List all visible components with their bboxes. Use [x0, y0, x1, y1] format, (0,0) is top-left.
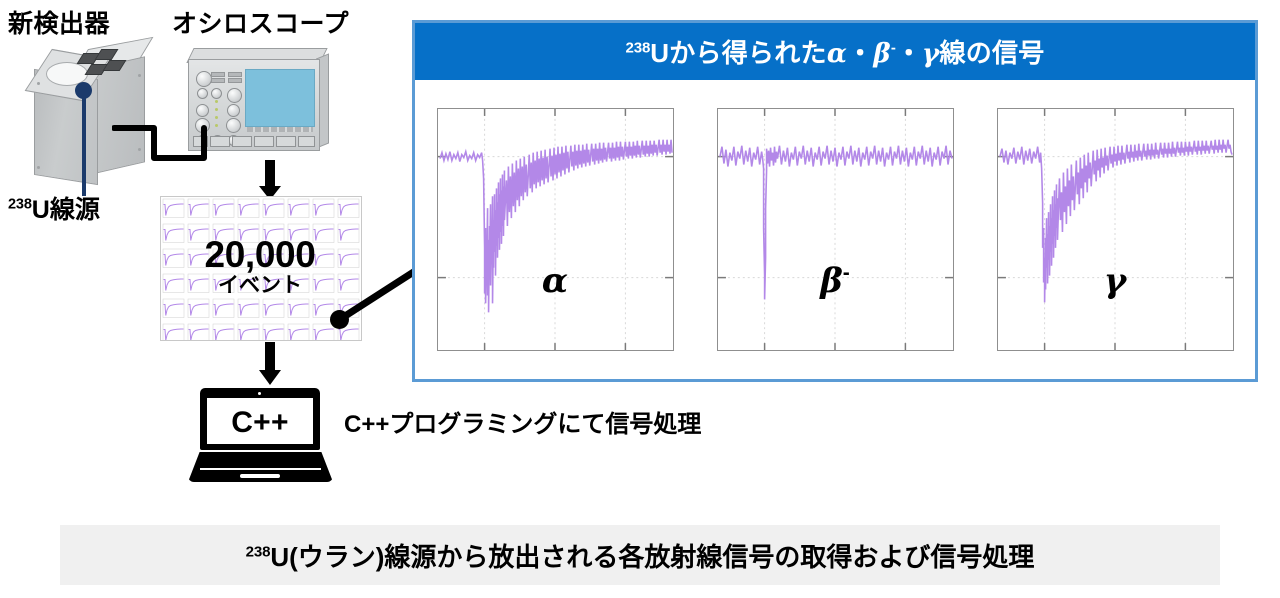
oscilloscope-led-1 — [215, 100, 218, 103]
panel-title-gamma: γ — [922, 39, 939, 69]
panel-title-text-b: 線の信号 — [939, 38, 1044, 68]
laptop-screen: C++ — [207, 398, 313, 444]
laptop-illustration: C++ — [188, 388, 333, 488]
arrow-scope-to-grid — [258, 160, 282, 200]
event-thumbnail — [311, 197, 336, 222]
oscilloscope-port-5 — [276, 136, 296, 147]
detector-screw-3 — [138, 74, 141, 77]
detector-label: 新検出器 — [8, 4, 110, 40]
waveform-plot-beta: betaβ- — [717, 108, 954, 351]
event-thumbnail — [161, 197, 186, 222]
event-thumbnail — [261, 247, 286, 272]
slide-canvas: 新検出器 オシロスコープ 238U線源 — [0, 0, 1280, 598]
oscilloscope-knob-2 — [227, 88, 242, 103]
oscilloscope-minibar-4 — [228, 78, 242, 83]
laptop-screen-text: C++ — [207, 406, 313, 440]
event-thumbnail — [161, 247, 186, 272]
event-thumbnail — [336, 222, 361, 247]
oscilloscope-knob-4 — [227, 104, 240, 117]
detector-scope-cable — [112, 120, 242, 180]
event-thumbnail — [261, 297, 286, 322]
oscilloscope-led-3 — [215, 116, 218, 119]
source-label-superscript: 238 — [8, 197, 32, 213]
oscilloscope-knob-3 — [196, 104, 209, 117]
event-thumbnail — [186, 272, 211, 297]
arrow-grid-to-laptop — [258, 342, 282, 386]
oscilloscope-minibar-1 — [211, 72, 225, 77]
event-thumbnail — [186, 222, 211, 247]
event-thumbnail — [236, 197, 261, 222]
event-thumbnail — [161, 322, 186, 341]
event-thumbnail — [286, 222, 311, 247]
event-thumbnail — [211, 197, 236, 222]
event-thumbnail — [236, 297, 261, 322]
event-thumbnail — [311, 222, 336, 247]
event-thumbnail — [236, 322, 261, 341]
panel-title-beta: β — [873, 39, 891, 69]
event-thumbnail — [161, 272, 186, 297]
source-label-text: U線源 — [32, 196, 100, 224]
event-thumbnail — [161, 297, 186, 322]
laptop-hinge-line — [200, 468, 321, 470]
source-pointer-line — [82, 88, 86, 196]
event-thumbnail — [186, 197, 211, 222]
event-thumbnail — [211, 272, 236, 297]
waveform-plot-alpha: α — [437, 108, 674, 351]
detector-screw-1 — [37, 82, 40, 85]
bottom-caption-text: 238U(ウラン)線源から放出される各放射線信号の取得および信号処理 — [246, 537, 1035, 574]
laptop-lid: C++ — [200, 388, 320, 450]
oscilloscope-knob-11 — [211, 88, 222, 99]
signals-panel-title: 238Uから得られたα・β-・γ線の信号 — [625, 33, 1044, 70]
event-thumbnail — [211, 247, 236, 272]
event-thumbnail — [211, 222, 236, 247]
event-thumbnail — [261, 197, 286, 222]
event-thumbnail — [336, 197, 361, 222]
event-thumbnail — [261, 222, 286, 247]
oscilloscope-knob-1 — [196, 71, 212, 87]
panel-title-sep-2: ・ — [896, 38, 922, 68]
waveform-plot-gamma: γ — [997, 108, 1234, 351]
event-thumbnail — [161, 222, 186, 247]
event-thumbnail — [186, 322, 211, 341]
laptop-trackpad — [240, 474, 280, 478]
event-thumbnail — [186, 247, 211, 272]
oscilloscope-minibar-2 — [211, 78, 225, 83]
event-thumbnail — [261, 322, 286, 341]
signals-panel: 238Uから得られたα・β-・γ線の信号 — [412, 20, 1258, 382]
panel-title-superscript: 238 — [625, 39, 650, 56]
event-thumbnail — [211, 322, 236, 341]
event-thumbnail — [286, 322, 311, 341]
oscilloscope-led-2 — [215, 108, 218, 111]
oscilloscope-port-6 — [298, 136, 315, 147]
event-thumbnail — [286, 272, 311, 297]
bottom-caption-superscript: 238 — [246, 543, 271, 560]
event-thumbnail — [236, 247, 261, 272]
bottom-caption-bar: 238U(ウラン)線源から放出される各放射線信号の取得および信号処理 — [60, 525, 1220, 585]
event-thumbnail — [286, 197, 311, 222]
source-label: 238U線源 — [8, 190, 100, 226]
oscilloscope-knob-10 — [197, 88, 208, 99]
event-thumbnail — [286, 247, 311, 272]
cpp-processing-caption: C++プログラミングにて信号処理 — [344, 404, 701, 439]
event-thumbnail — [236, 272, 261, 297]
event-thumbnail — [261, 272, 286, 297]
waveform-plots-row: α — [415, 80, 1255, 379]
event-thumbnail — [211, 297, 236, 322]
oscilloscope-softkey-row — [247, 127, 313, 132]
grid-leader-dot — [330, 310, 349, 329]
oscilloscope-label: オシロスコープ — [172, 4, 349, 40]
event-thumbnail — [286, 297, 311, 322]
event-thumbnail — [186, 297, 211, 322]
oscilloscope-minibar-3 — [228, 72, 242, 77]
signals-panel-header: 238Uから得られたα・β-・γ線の信号 — [415, 23, 1255, 80]
panel-title-alpha: α — [827, 39, 847, 69]
detector-screw-2 — [37, 166, 40, 169]
laptop-camera — [258, 392, 261, 395]
panel-title-text-a: Uから得られた — [650, 38, 827, 68]
oscilloscope-port-4 — [254, 136, 274, 147]
bottom-caption-body: U(ウラン)線源から放出される各放射線信号の取得および信号処理 — [270, 542, 1034, 572]
oscilloscope-screen — [245, 69, 315, 127]
panel-title-sep-1: ・ — [847, 38, 873, 68]
event-thumbnail — [236, 222, 261, 247]
